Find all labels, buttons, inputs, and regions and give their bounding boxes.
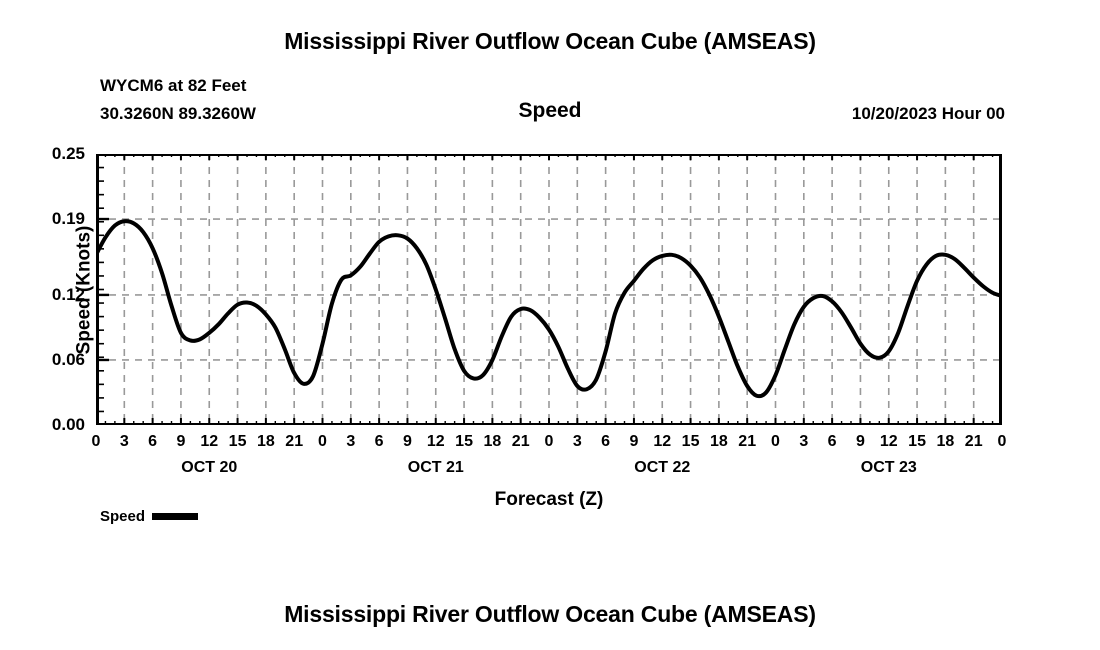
x-tick-label: 18 xyxy=(257,433,275,451)
x-tick-label: 9 xyxy=(856,433,865,451)
y-tick-label: 0.19 xyxy=(52,209,85,229)
x-axis-title: Forecast (Z) xyxy=(96,489,1002,511)
x-tick-label: 3 xyxy=(799,433,808,451)
x-tick-label: 6 xyxy=(148,433,157,451)
y-tick-label: 0.12 xyxy=(52,285,85,305)
x-tick-label: 0 xyxy=(318,433,327,451)
page-title-bottom: Mississippi River Outflow Ocean Cube (AM… xyxy=(0,601,1100,628)
y-tick-label: 0.25 xyxy=(52,144,85,164)
x-tick-label: 18 xyxy=(710,433,728,451)
station-label: WYCM6 at 82 Feet xyxy=(100,76,246,96)
x-tick-label: 12 xyxy=(200,433,218,451)
x-tick-label: 6 xyxy=(828,433,837,451)
x-tick-label: 3 xyxy=(346,433,355,451)
x-tick-label: 0 xyxy=(771,433,780,451)
x-tick-label: 9 xyxy=(403,433,412,451)
x-axis-day-label: OCT 23 xyxy=(861,459,917,477)
legend-label: Speed xyxy=(100,508,145,525)
x-tick-label: 0 xyxy=(92,433,101,451)
x-tick-label: 18 xyxy=(483,433,501,451)
chart-page: Mississippi River Outflow Ocean Cube (AM… xyxy=(0,0,1100,650)
plot-area: Speed (Knots) 0.000.060.120.190.25 03691… xyxy=(96,154,1002,425)
x-tick-label: 21 xyxy=(738,433,756,451)
x-tick-label: 15 xyxy=(908,433,926,451)
x-tick-label: 12 xyxy=(427,433,445,451)
legend: Speed xyxy=(100,508,198,525)
x-tick-label: 9 xyxy=(176,433,185,451)
x-tick-label: 6 xyxy=(375,433,384,451)
x-tick-label: 0 xyxy=(545,433,554,451)
x-tick-label: 15 xyxy=(229,433,247,451)
model-run-label: 10/20/2023 Hour 00 xyxy=(852,104,1005,124)
x-tick-label: 21 xyxy=(512,433,530,451)
x-axis-day-label: OCT 21 xyxy=(408,459,464,477)
page-title-top: Mississippi River Outflow Ocean Cube (AM… xyxy=(0,28,1100,55)
x-tick-label: 3 xyxy=(573,433,582,451)
y-tick-label: 0.00 xyxy=(52,415,85,435)
x-tick-label: 12 xyxy=(880,433,898,451)
x-tick-label: 9 xyxy=(629,433,638,451)
legend-line-swatch xyxy=(152,513,198,520)
x-tick-label: 21 xyxy=(965,433,983,451)
x-tick-label: 15 xyxy=(682,433,700,451)
x-tick-label: 6 xyxy=(601,433,610,451)
x-tick-label: 21 xyxy=(285,433,303,451)
y-tick-label: 0.06 xyxy=(52,350,85,370)
x-tick-label: 3 xyxy=(120,433,129,451)
x-tick-label: 15 xyxy=(455,433,473,451)
plot-frame xyxy=(96,154,1002,425)
x-axis-day-label: OCT 22 xyxy=(634,459,690,477)
x-axis-day-label: OCT 20 xyxy=(181,459,237,477)
x-tick-label: 12 xyxy=(653,433,671,451)
x-tick-label: 0 xyxy=(998,433,1007,451)
x-tick-label: 18 xyxy=(936,433,954,451)
